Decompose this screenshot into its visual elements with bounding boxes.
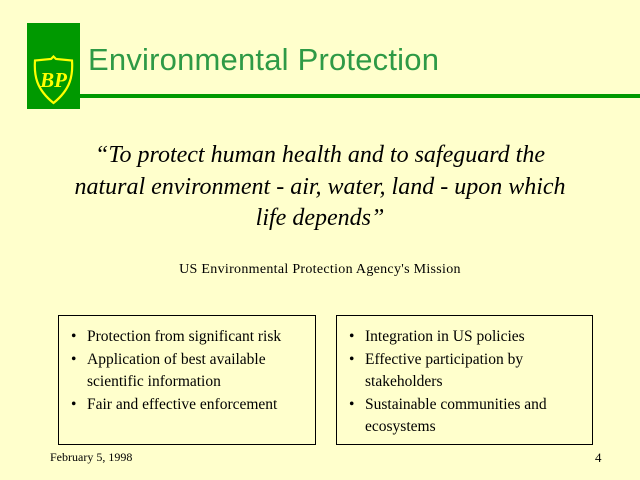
list-item: • Effective participation by stakeholder… <box>345 349 586 393</box>
list-item-label: Integration in US policies <box>365 328 525 345</box>
list-item: • Fair and effective enforcement <box>67 394 309 416</box>
left-bullet-list: • Protection from significant risk • App… <box>59 316 315 416</box>
list-item-label: Protection from significant risk <box>87 328 281 345</box>
list-item-label: Sustainable communities and ecosystems <box>365 396 547 435</box>
svg-text:BP: BP <box>39 68 67 92</box>
left-bullet-box: • Protection from significant risk • App… <box>58 315 316 445</box>
page-title: Environmental Protection <box>88 43 439 77</box>
quote-attribution: US Environmental Protection Agency's Mis… <box>60 262 580 278</box>
list-item: • Application of best available scientif… <box>67 349 309 393</box>
bullet-icon: • <box>349 394 354 416</box>
mission-quote: “To protect human health and to safeguar… <box>60 140 580 235</box>
brand-logo-panel: BP <box>27 23 80 109</box>
footer-page-number: 4 <box>595 450 602 466</box>
list-item-label: Fair and effective enforcement <box>87 396 277 413</box>
bullet-icon: • <box>71 326 76 348</box>
list-item: • Integration in US policies <box>345 326 586 348</box>
footer-date: February 5, 1998 <box>50 450 132 465</box>
list-item-label: Application of best available scientific… <box>87 351 266 390</box>
title-divider <box>78 94 640 98</box>
bullet-icon: • <box>71 349 76 371</box>
bullet-icon: • <box>349 326 354 348</box>
list-item-label: Effective participation by stakeholders <box>365 351 523 390</box>
list-item: • Sustainable communities and ecosystems <box>345 394 586 438</box>
bp-shield-logo: BP <box>32 55 75 105</box>
slide-canvas: BP Environmental Protection “To protect … <box>0 0 640 480</box>
right-bullet-list: • Integration in US policies • Effective… <box>337 316 592 438</box>
right-bullet-box: • Integration in US policies • Effective… <box>336 315 593 445</box>
list-item: • Protection from significant risk <box>67 326 309 348</box>
bullet-icon: • <box>349 349 354 371</box>
bullet-icon: • <box>71 394 76 416</box>
